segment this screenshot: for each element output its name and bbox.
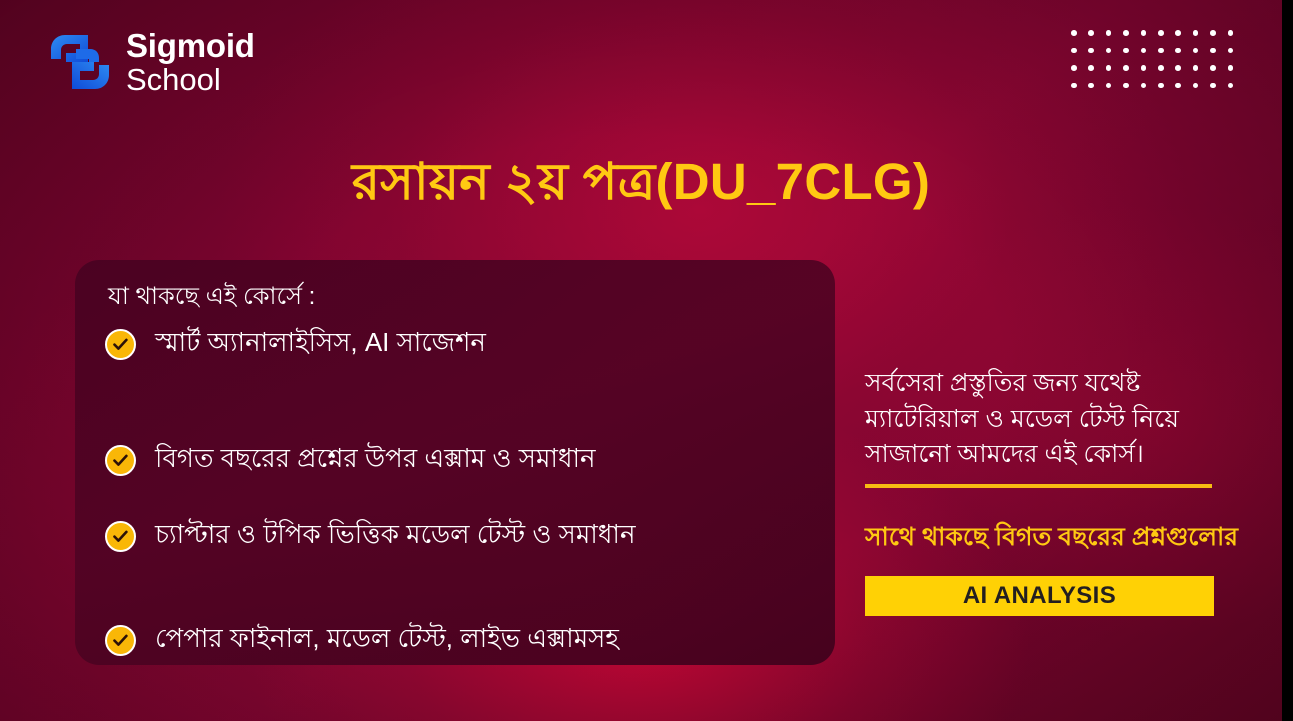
feature-label: বিগত বছরের প্রশ্নের উপর এক্সাম ও সমাধান bbox=[155, 438, 596, 482]
check-circle-icon bbox=[105, 445, 136, 476]
check-circle-icon bbox=[105, 521, 136, 552]
features-card-heading: যা থাকছে এই কোর্সে : bbox=[108, 278, 315, 318]
brand-name-primary: Sigmoid bbox=[126, 29, 255, 62]
divider bbox=[865, 484, 1212, 488]
side-description: সর্বসেরা প্রস্তুতির জন্য যথেষ্ট ম্যাটেরি… bbox=[865, 366, 1265, 473]
promo-poster: Sigmoid School রসায়ন ২য় পত্র(DU_7CLG) … bbox=[0, 0, 1293, 721]
list-item: পেপার ফাইনাল, মডেল টেস্ট, লাইভ এক্সামসহ bbox=[105, 618, 820, 662]
list-item: চ্যাপ্টার ও টপিক ভিত্তিক মডেল টেস্ট ও সম… bbox=[105, 514, 820, 558]
side-tagline: সাথে থাকছে বিগত বছরের প্রশ্নগুলোর bbox=[865, 517, 1265, 560]
brand-logo-text: Sigmoid School bbox=[126, 29, 255, 95]
side-description-line-1: সর্বসেরা প্রস্তুতির জন্য যথেষ্ট bbox=[865, 366, 1265, 402]
list-item: বিগত বছরের প্রশ্নের উপর এক্সাম ও সমাধান bbox=[105, 438, 820, 482]
check-circle-icon bbox=[105, 329, 136, 360]
side-description-line-2: ম্যাটেরিয়াল ও মডেল টেস্ট নিয়ে bbox=[865, 402, 1265, 438]
dot-grid-icon bbox=[1071, 30, 1245, 100]
check-circle-icon bbox=[105, 625, 136, 656]
side-description-line-3: সাজানো আমদের এই কোর্স। bbox=[865, 437, 1265, 473]
feature-list: স্মার্ট অ্যানালাইসিস, AI সাজেশন বিগত বছর… bbox=[105, 322, 820, 662]
page-title: রসায়ন ২য় পত্র(DU_7CLG) bbox=[0, 143, 1282, 228]
list-item: স্মার্ট অ্যানালাইসিস, AI সাজেশন bbox=[105, 322, 820, 366]
sigmoid-s-mark-icon bbox=[48, 31, 112, 93]
brand-logo[interactable]: Sigmoid School bbox=[48, 29, 255, 95]
side-panel: সর্বসেরা প্রস্তুতির জন্য যথেষ্ট ম্যাটেরি… bbox=[865, 366, 1265, 616]
features-card: যা থাকছে এই কোর্সে : স্মার্ট অ্যানালাইসি… bbox=[75, 260, 835, 665]
feature-label: পেপার ফাইনাল, মডেল টেস্ট, লাইভ এক্সামসহ bbox=[155, 618, 619, 662]
ai-analysis-button[interactable]: AI ANALYSIS bbox=[865, 576, 1214, 616]
feature-label: চ্যাপ্টার ও টপিক ভিত্তিক মডেল টেস্ট ও সম… bbox=[155, 514, 635, 558]
brand-name-secondary: School bbox=[126, 64, 255, 95]
right-edge-strip bbox=[1282, 0, 1293, 721]
feature-label: স্মার্ট অ্যানালাইসিস, AI সাজেশন bbox=[155, 322, 486, 366]
